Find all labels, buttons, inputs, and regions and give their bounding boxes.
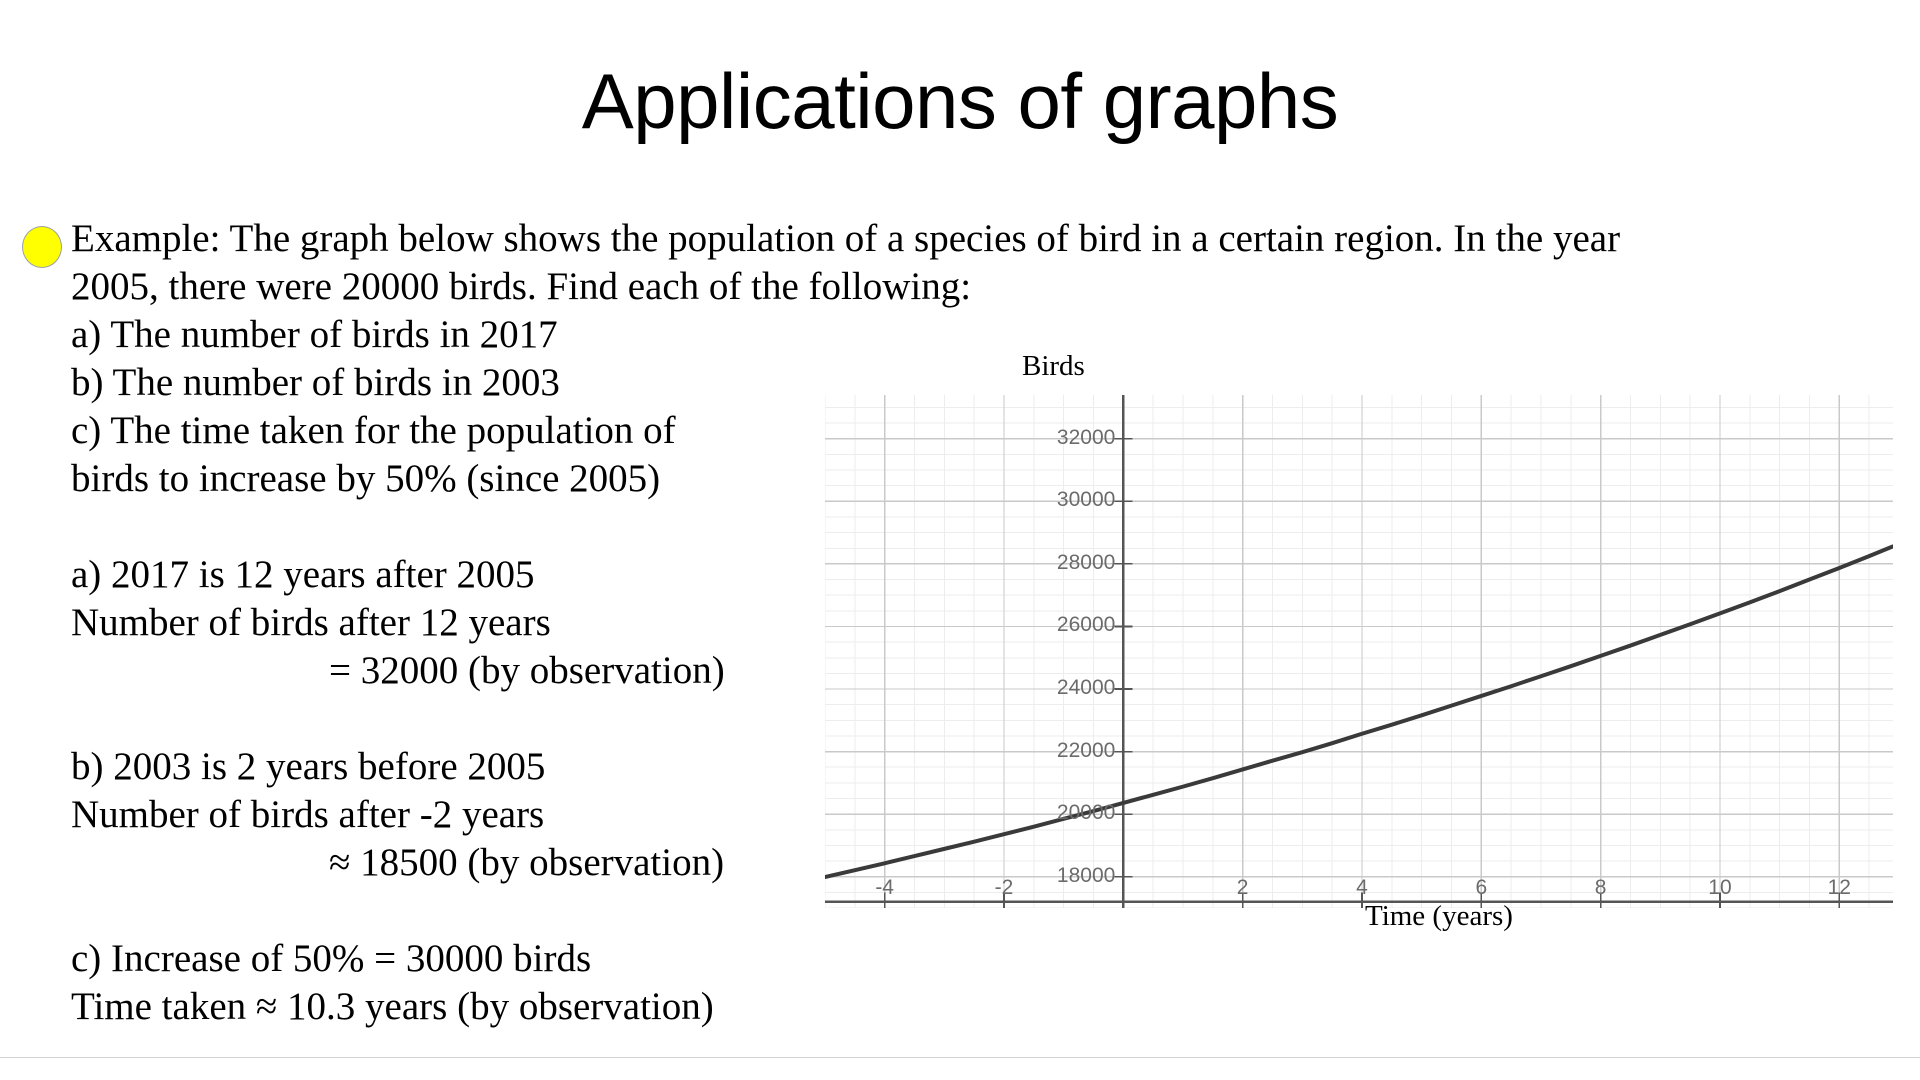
chart-y-tick-label: 26000	[1041, 613, 1115, 637]
chart-svg	[825, 395, 1893, 908]
body-line: Example: The graph below shows the popul…	[71, 215, 1861, 263]
chart-y-tick-label: 32000	[1041, 426, 1115, 450]
bird-population-chart: Birds Time (years) 180002000022000240002…	[825, 350, 1920, 950]
chart-plot-area	[825, 395, 1893, 908]
footer-divider	[0, 1057, 1920, 1058]
chart-x-tick-label: 10	[1695, 876, 1745, 900]
page-title: Applications of graphs	[0, 62, 1920, 140]
body-line: Time taken ≈ 10.3 years (by observation)	[71, 983, 1861, 1031]
chart-y-tick-label: 20000	[1041, 801, 1115, 825]
chart-x-tick-label: 6	[1456, 876, 1506, 900]
chart-y-tick-label: 22000	[1041, 739, 1115, 763]
chart-x-tick-label: -4	[860, 876, 910, 900]
chart-y-tick-label: 18000	[1041, 864, 1115, 888]
bullet-marker-icon	[22, 226, 62, 268]
chart-x-tick-label: -2	[979, 876, 1029, 900]
chart-y-tick-label: 28000	[1041, 551, 1115, 575]
chart-x-tick-label: 4	[1337, 876, 1387, 900]
chart-x-tick-label: 12	[1814, 876, 1864, 900]
chart-y-tick-label: 30000	[1041, 488, 1115, 512]
chart-series-line	[825, 546, 1893, 877]
chart-x-tick-label: 8	[1576, 876, 1626, 900]
body-line-text: ≈ 18500 (by observation)	[329, 841, 724, 884]
chart-y-tick-label: 24000	[1041, 676, 1115, 700]
chart-y-axis-title: Birds	[1022, 350, 1085, 383]
body-line: 2005, there were 20000 birds. Find each …	[71, 263, 1861, 311]
body-line-text: = 32000 (by observation)	[329, 649, 725, 692]
chart-x-axis-title: Time (years)	[1365, 900, 1513, 933]
chart-x-tick-label: 2	[1218, 876, 1268, 900]
